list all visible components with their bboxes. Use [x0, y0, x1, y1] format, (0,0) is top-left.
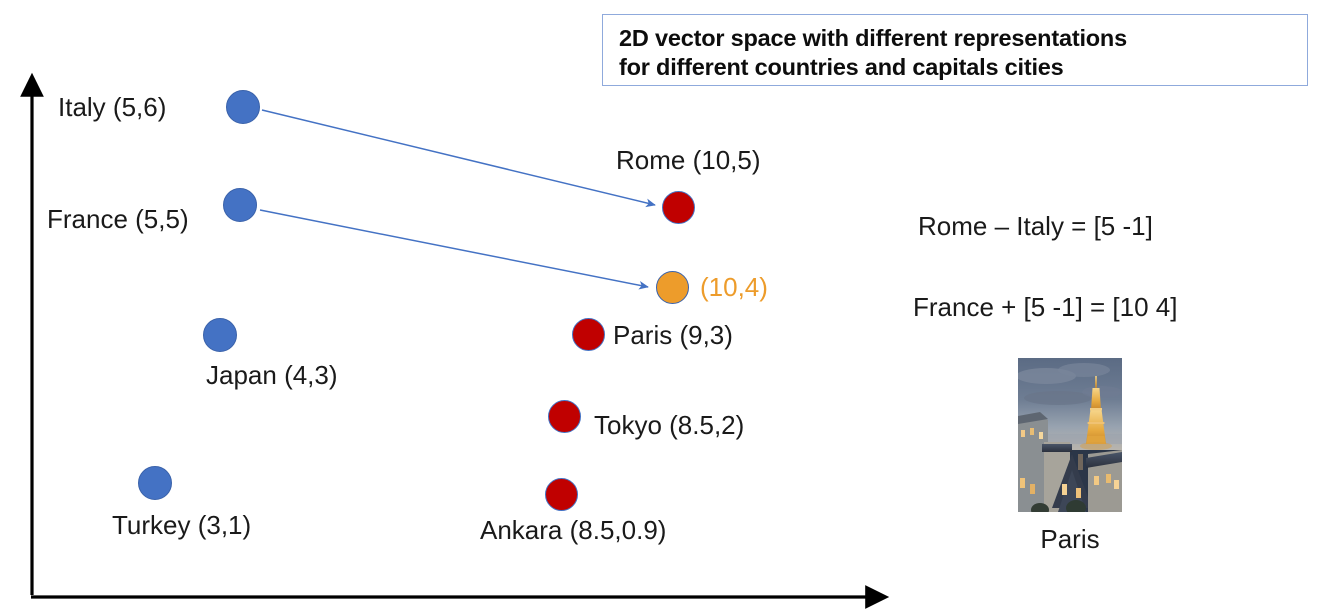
label-france: France (5,5) [47, 204, 189, 234]
equation-france-plus-delta: France + [5 -1] = [10 4] [913, 292, 1177, 322]
equation-rome-minus-italy: Rome – Italy = [5 -1] [918, 211, 1153, 241]
arrow-italy-to-rome [262, 110, 655, 205]
title-line-1: 2D vector space with different represent… [619, 24, 1293, 53]
label-computed-vector: (10,4) [700, 272, 768, 302]
label-paris: Paris (9,3) [613, 320, 733, 350]
point-tokyo[interactable] [548, 400, 581, 433]
paris-photo [1018, 358, 1122, 512]
title-line-2: for different countries and capitals cit… [619, 53, 1293, 82]
photo-caption-paris: Paris [1018, 524, 1122, 554]
point-japan[interactable] [203, 318, 237, 352]
point-computed-vector[interactable] [656, 271, 689, 304]
label-tokyo: Tokyo (8.5,2) [594, 410, 744, 440]
point-turkey[interactable] [138, 466, 172, 500]
point-ankara[interactable] [545, 478, 578, 511]
label-rome: Rome (10,5) [616, 145, 761, 175]
slide-canvas: 2D vector space with different represent… [0, 0, 1326, 612]
point-italy[interactable] [226, 90, 260, 124]
label-ankara: Ankara (8.5,0.9) [480, 515, 666, 545]
arrow-france-to-computed [260, 210, 648, 287]
point-paris[interactable] [572, 318, 605, 351]
label-italy: Italy (5,6) [58, 92, 166, 122]
label-japan: Japan (4,3) [206, 360, 338, 390]
label-turkey: Turkey (3,1) [112, 510, 251, 540]
point-france[interactable] [223, 188, 257, 222]
point-rome[interactable] [662, 191, 695, 224]
title-callout-box: 2D vector space with different represent… [602, 14, 1308, 86]
